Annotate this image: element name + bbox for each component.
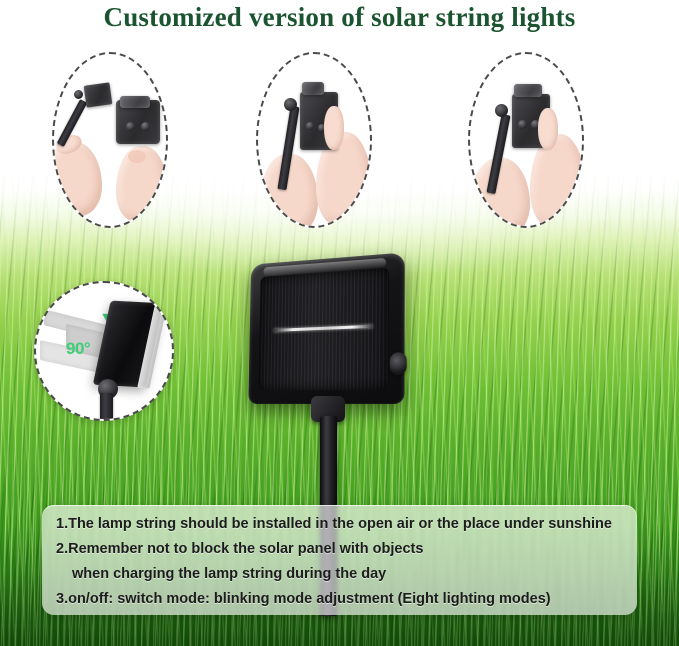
step-circle-3 — [468, 52, 584, 228]
unit-button-b — [141, 122, 150, 131]
hinge-pivot — [284, 98, 297, 111]
right-hand — [530, 134, 584, 228]
step-2-illustration — [258, 54, 370, 226]
solar-unit-top — [302, 82, 324, 95]
instruction-panel: 1.The lamp string should be installed in… — [42, 505, 637, 615]
tilt-angle-inset: 90° — [34, 281, 174, 421]
stake-bracket — [84, 82, 113, 107]
instruction-line-1: 1.The lamp string should be installed in… — [56, 516, 612, 532]
solar-unit-top — [120, 96, 150, 108]
instruction-line-2-continued: when charging the lamp string during the… — [72, 566, 386, 582]
solar-unit-top — [514, 84, 542, 97]
step-3-illustration — [470, 54, 582, 226]
index-finger — [324, 106, 344, 150]
step-1-illustration — [54, 54, 166, 226]
step-circle-1 — [52, 52, 168, 228]
thumb — [128, 150, 146, 163]
unit-button-a — [518, 120, 527, 129]
index-finger — [538, 108, 558, 150]
bracket-pivot — [74, 90, 83, 99]
unit-button-a — [126, 122, 135, 131]
solar-panel-housing — [248, 252, 404, 404]
main-product — [233, 256, 433, 506]
hinge-pivot — [495, 104, 508, 117]
cell-busbar — [274, 325, 372, 332]
unit-button-a — [306, 122, 314, 130]
angle-label: 90° — [66, 339, 90, 359]
product-infographic: Customized version of solar string light… — [0, 0, 679, 646]
photovoltaic-cell — [258, 268, 389, 391]
inset-stake — [100, 393, 113, 421]
step-circle-2 — [256, 52, 372, 228]
instruction-line-2: 2.Remember not to block the solar panel … — [56, 541, 423, 557]
power-mode-button[interactable] — [390, 352, 407, 375]
page-title: Customized version of solar string light… — [0, 2, 679, 33]
instruction-line-3: 3.on/off: switch mode: blinking mode adj… — [56, 591, 551, 607]
